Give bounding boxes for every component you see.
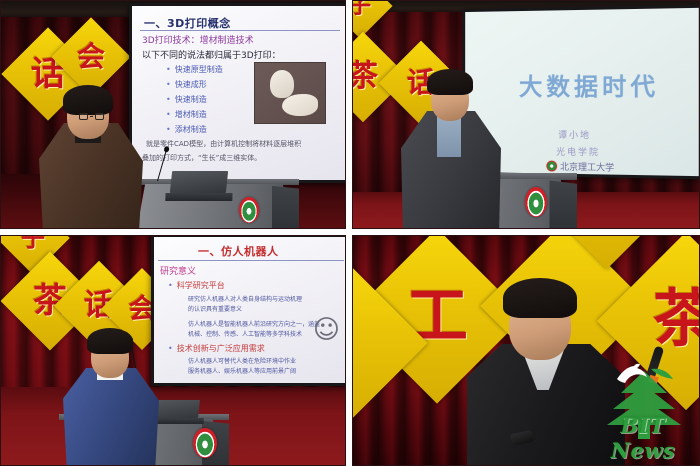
speaker-figure [61, 320, 161, 466]
panel-image-top-left: 话 会 一、3D打印概念 3D打印技术：增材制造技术 以下不同的说法都归属于3D… [0, 0, 346, 229]
speaker-torso [63, 368, 159, 466]
banner-glyph: 茶 [653, 288, 700, 350]
projector-screen-frame: 一、仿人机器人 研究意义 科学研究平台 研究仿人机器人对人类自身结构与运动机理 … [151, 235, 346, 386]
panel-image-top-right: 子 茶 话 大数据时代 谭小地 光电学院 北京理工大学 [352, 0, 700, 229]
speaker-hair [427, 69, 473, 95]
banner-glyph: 子 [352, 0, 371, 17]
slide-subtitle: 3D打印技术：增材制造技术 [142, 33, 254, 46]
slide-bullet: 科学研究平台 [168, 280, 225, 291]
slide-bullet: 快速成形 [166, 79, 207, 90]
slide-title: 一、3D打印概念 [144, 15, 231, 31]
laptop [170, 171, 228, 193]
slide-lead-line: 以下不同的说法都归属于3D打印： [142, 48, 281, 61]
watermark-text: BIT News [591, 413, 695, 463]
speaker-hair [503, 278, 577, 318]
panel-image-bottom-right: 工 茶 [352, 235, 700, 466]
university-crest-emblem [525, 187, 547, 217]
slide-subline: 的认识具有重要意义 [188, 304, 242, 313]
slide-divider [158, 260, 344, 261]
speaker-figure [395, 59, 505, 229]
slide-section-label: 研究意义 [160, 264, 196, 277]
slide-footnote: 叠加的打印方式，“生长”成三维实体。 [142, 153, 261, 163]
speaker-hair [87, 328, 133, 354]
slide-subline: 仿人机器人是智能机器人前沿研究方向之一，涵盖 [188, 319, 320, 328]
projector-screen-frame: 一、3D打印概念 3D打印技术：增材制造技术 以下不同的说法都归属于3D打印： … [129, 3, 346, 183]
photo-panel-top-left: 话 会 一、3D打印概念 3D打印技术：增材制造技术 以下不同的说法都归属于3D… [0, 0, 349, 232]
slide-bullet: 技术创新与广泛应用需求 [168, 343, 265, 354]
speaker-glasses [79, 113, 104, 120]
slide-subline: 服务机器人、娱乐机器人等应用前景广阔 [188, 366, 296, 375]
university-seal-icon [546, 161, 557, 172]
speaker-figure [37, 79, 147, 229]
university-crest-emblem [239, 197, 259, 223]
slide-department: 光电学院 [556, 145, 600, 159]
slide-university-mark: 北京理工大学 [546, 160, 614, 174]
slide-bullet: 快速原型制造 [166, 64, 223, 75]
photo-panel-bottom-right: 工 茶 [349, 232, 700, 466]
speaker-hair [63, 85, 113, 115]
slide-illustration [254, 62, 326, 124]
banner-glyph: 会 [77, 43, 105, 71]
dove-icon [615, 363, 649, 387]
banner-glyph: 子 [21, 235, 45, 250]
slide-bullet: 快速制造 [166, 94, 207, 105]
slide-title: 一、仿人机器人 [198, 243, 279, 259]
slide-subline: 机械、控制、传感、人工智能等多学科技术 [188, 329, 302, 338]
slide-bullet: 添材制造 [166, 124, 207, 135]
photo-panel-bottom-left: 子 茶 话 会 一、仿人机器人 研究意义 科学研究平台 研究仿人机器人对人类自身… [0, 232, 349, 466]
banner-glyph: 茶 [352, 62, 378, 92]
robot-sketch-icon: ☺ [313, 317, 340, 343]
photo-panel-top-right: 子 茶 话 大数据时代 谭小地 光电学院 北京理工大学 [349, 0, 700, 232]
slide-bullet: 增材制造 [166, 109, 207, 120]
slide-presenter-name: 谭小地 [558, 128, 591, 141]
slide-divider [140, 30, 340, 31]
panel-image-bottom-left: 子 茶 话 会 一、仿人机器人 研究意义 科学研究平台 研究仿人机器人对人类自身… [0, 235, 346, 466]
bit-news-watermark: BIT News [591, 361, 695, 463]
slide-subline: 仿人机器人可替代人类在危险环境中作业 [188, 356, 296, 365]
slide-subline: 研究仿人机器人对人类自身结构与运动机理 [188, 294, 302, 303]
presentation-slide: 一、仿人机器人 研究意义 科学研究平台 研究仿人机器人对人类自身结构与运动机理 … [154, 237, 346, 383]
photo-collage: 话 会 一、3D打印概念 3D打印技术：增材制造技术 以下不同的说法都归属于3D… [0, 0, 700, 466]
university-crest-emblem [193, 428, 217, 458]
slide-university-name: 北京理工大学 [560, 160, 614, 174]
slide-main-title: 大数据时代 [519, 67, 659, 103]
